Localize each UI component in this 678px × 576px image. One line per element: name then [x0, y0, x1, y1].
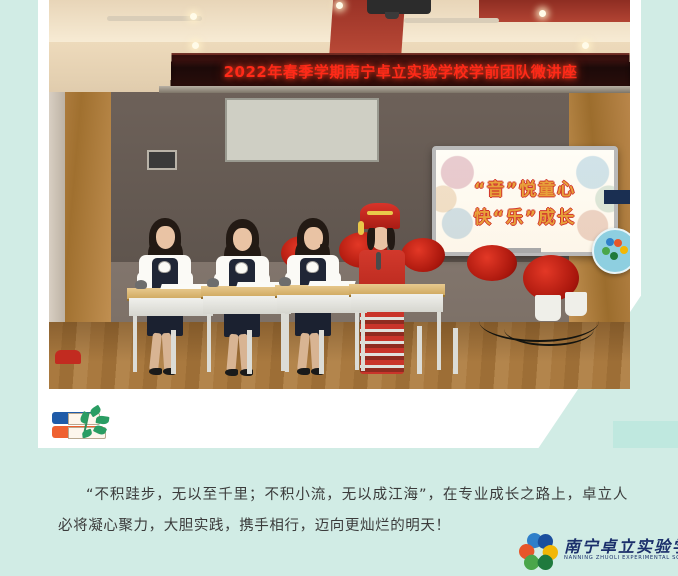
led-banner-text: 2022年春季学期南宁卓立实验学校学前团队微讲座	[223, 61, 577, 82]
ceiling-red-strip	[479, 0, 630, 22]
stool-2-leg	[247, 330, 252, 374]
desk-1-leg-left	[133, 316, 137, 372]
ethnic-headdress	[360, 203, 400, 229]
desk-3-leg-left	[281, 313, 285, 371]
ceiling-light-3	[336, 2, 343, 9]
article-page: 2022年春季学期南宁卓立实验学校学前团队微讲座 “音”悦童心 快“乐”成长	[0, 0, 678, 576]
card-corner-notch	[613, 421, 678, 448]
ceiling-light-5	[539, 10, 546, 17]
school-round-sign	[592, 228, 630, 274]
wall-whiteboard	[225, 98, 379, 162]
school-name-cn: 南宁卓立实验学校	[564, 533, 678, 557]
poinsettia-3	[401, 238, 445, 272]
desk-2-leg-left	[207, 314, 211, 372]
screen-title-line-1: “音”悦童心	[474, 175, 576, 200]
desk-4-leg-right	[437, 312, 441, 370]
podium-sign-bar	[604, 190, 630, 204]
led-banner: 2022年春季学期南宁卓立实验学校学前团队微讲座	[171, 53, 630, 89]
ceiling-vent-right	[404, 18, 499, 23]
wall-edge-left	[49, 92, 65, 322]
desk-4-front	[351, 294, 443, 312]
stool-3-leg	[319, 330, 324, 374]
sign-petal-4	[602, 247, 610, 255]
ceiling-vent-left	[107, 16, 202, 21]
red-object-floor	[55, 350, 81, 364]
floor-cable-2	[504, 312, 594, 346]
headdress-ornament-2	[358, 221, 364, 235]
ceiling-light-2	[192, 42, 199, 49]
poinsettia-4	[467, 245, 517, 281]
leaf-2	[96, 415, 110, 425]
screen-title-line-2: 快“乐”成长	[474, 203, 576, 228]
ceiling-light-1	[190, 13, 197, 20]
sign-petal-1	[606, 238, 614, 246]
wall-control-box	[147, 150, 177, 170]
headdress-ornament-1	[367, 211, 393, 215]
handheld-microphone	[376, 252, 381, 270]
led-banner-rail	[159, 86, 630, 93]
presentation-screen: “音”悦童心 快“乐”成长	[432, 146, 618, 256]
ceiling-light-4	[582, 42, 589, 49]
stool-5-leg	[453, 328, 458, 374]
stool-1-leg	[171, 330, 176, 374]
ceiling-projector	[367, 0, 431, 14]
desk-1-microphone	[135, 280, 147, 289]
six-petal-flower-logo	[518, 533, 558, 571]
stacked-books-with-leaves-icon	[52, 408, 116, 444]
desk-3-microphone	[279, 277, 291, 286]
desk-1-front	[129, 298, 213, 316]
stool-4-leg	[417, 326, 422, 374]
sign-petal-3	[620, 246, 628, 254]
school-logo: 南宁卓立实验学校 NANNING ZHUOLI EXPERIMENTAL SCH…	[518, 531, 670, 573]
desk-3-leg-right	[361, 313, 365, 371]
school-name-en: NANNING ZHUOLI EXPERIMENTAL SCHOOL	[564, 555, 678, 561]
desk-2-microphone	[207, 278, 219, 287]
desk-4-leg-left	[355, 312, 359, 370]
classroom-lecture-photo: 2022年春季学期南宁卓立实验学校学前团队微讲座 “音”悦童心 快“乐”成长	[49, 0, 630, 389]
desk-2-leg-right	[285, 314, 289, 372]
sign-petal-5	[610, 252, 618, 260]
